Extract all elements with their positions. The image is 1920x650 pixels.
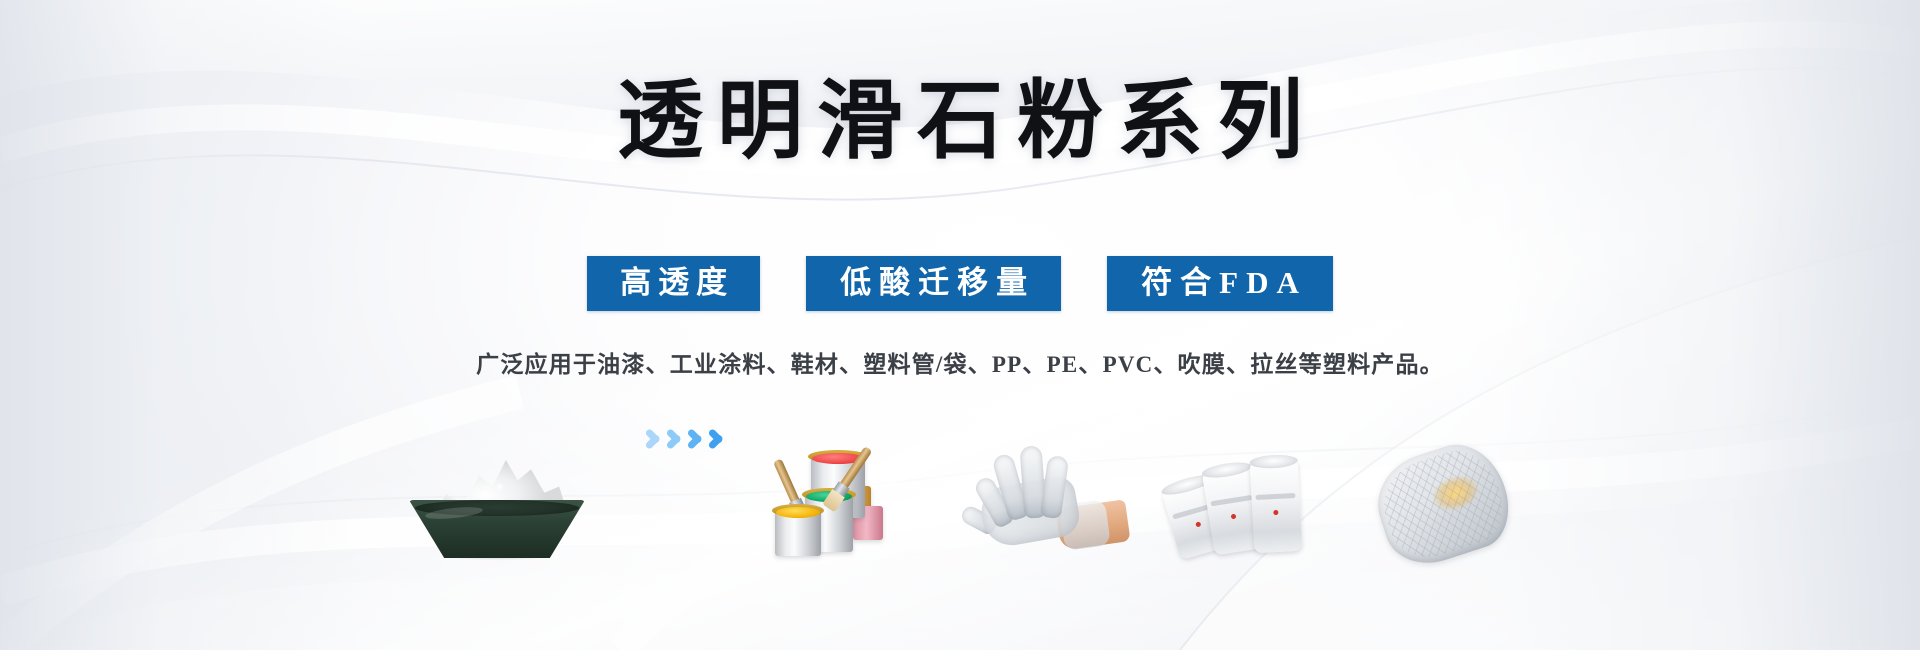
product-banner: 透明滑石粉系列 高透度 低酸迁移量 符合FDA 广泛应用于油漆、工业涂料、鞋材、…: [0, 0, 1920, 650]
gloved-hand-image: [959, 418, 1129, 558]
badge-high-transparency[interactable]: 高透度: [587, 256, 760, 312]
chevron-right-icon: [645, 423, 664, 455]
feature-badge-row: 高透度 低酸迁移量 符合FDA: [587, 256, 1333, 312]
process-arrows: [621, 386, 751, 526]
banner-headline: 透明滑石粉系列: [603, 78, 1317, 164]
chevron-right-icon: [666, 423, 685, 455]
chevron-right-icon: [708, 423, 727, 455]
talc-powder-bowl-image: [397, 418, 597, 558]
paint-cans-image: [765, 418, 915, 558]
film-rolls-image: [1169, 418, 1319, 558]
badge-fda-compliant[interactable]: 符合FDA: [1107, 256, 1333, 312]
chevron-right-icon: [687, 423, 706, 455]
badge-low-acid-migration[interactable]: 低酸迁移量: [806, 256, 1061, 312]
banner-subtitle: 广泛应用于油漆、工业涂料、鞋材、塑料管/袋、PP、PE、PVC、吹膜、拉丝等塑料…: [476, 345, 1444, 379]
shoe-sole-image: [1363, 418, 1523, 558]
application-gallery: [0, 418, 1920, 558]
